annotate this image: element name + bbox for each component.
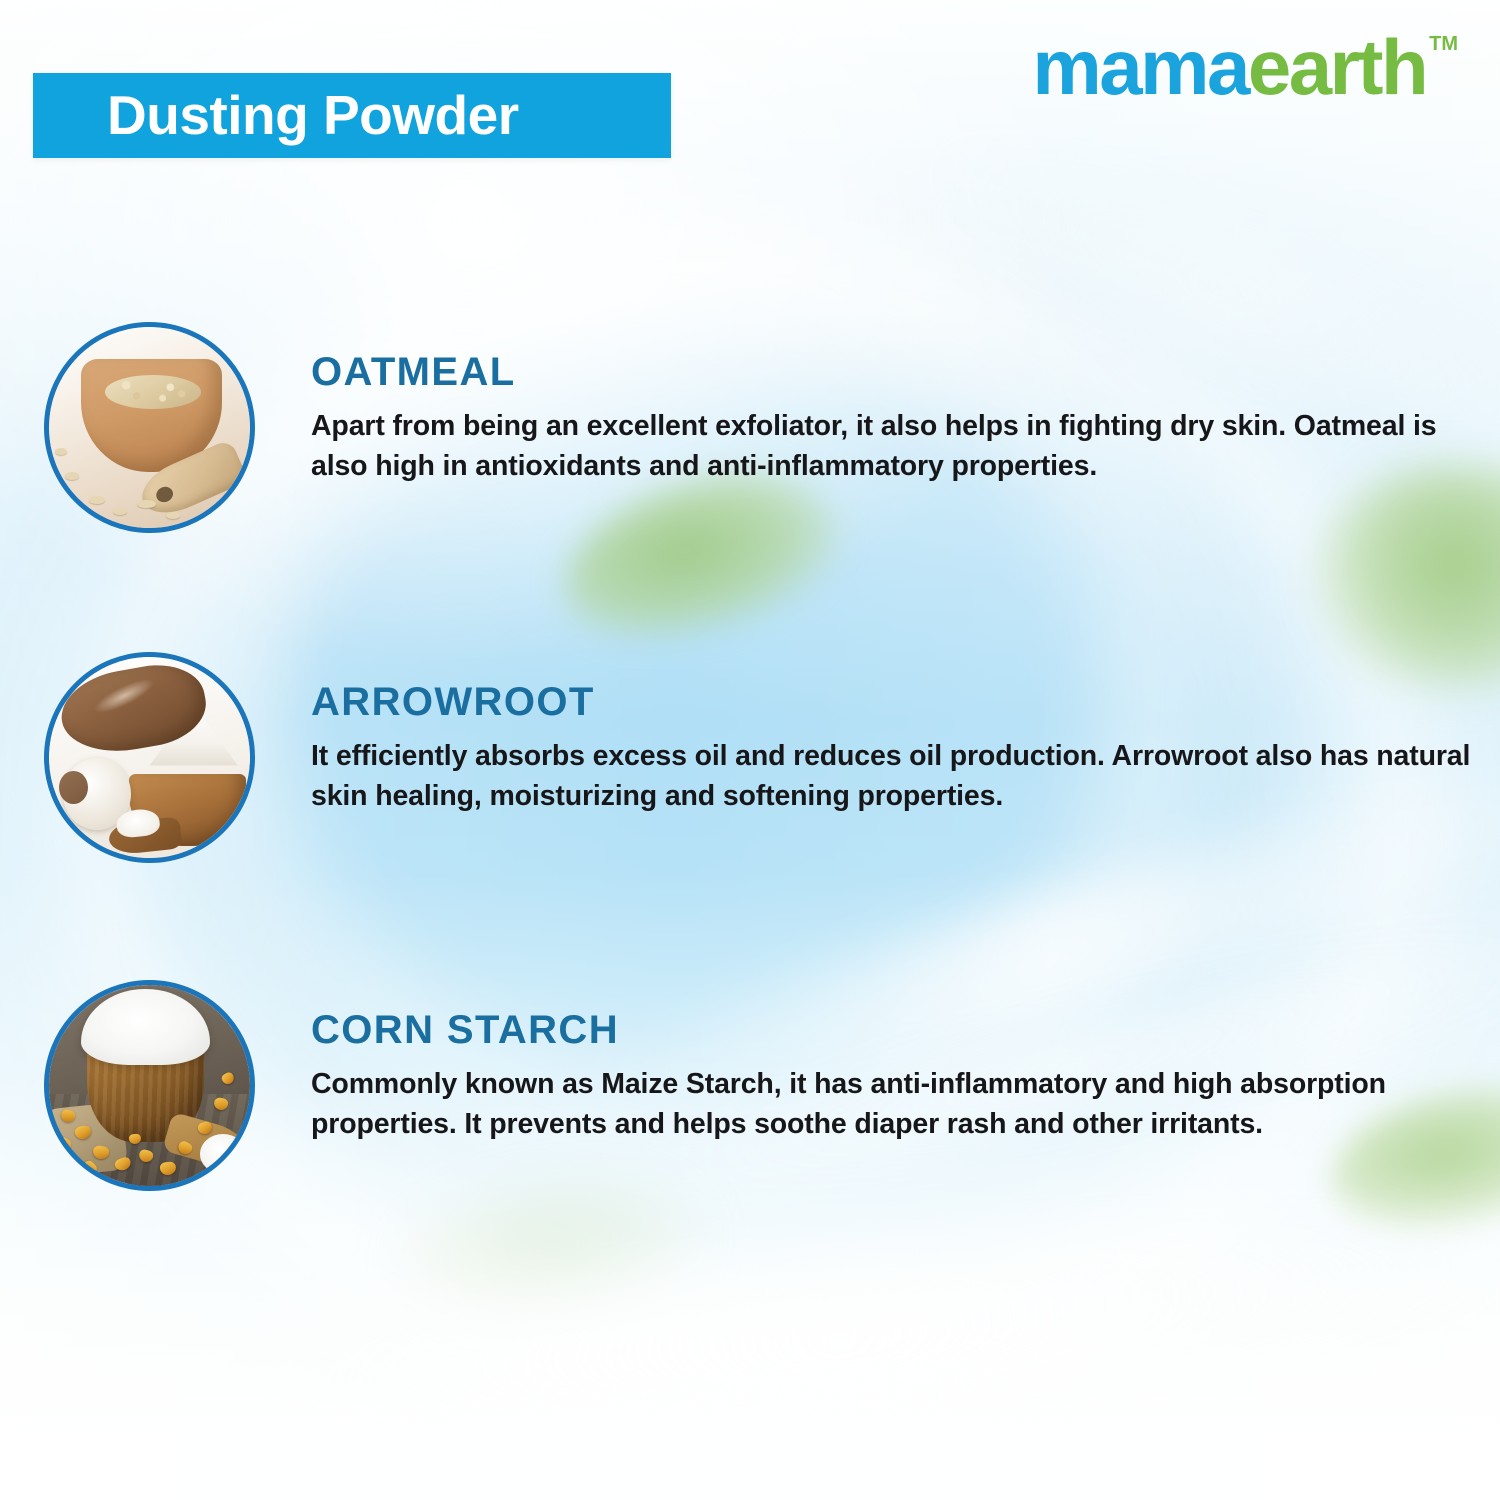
- ingredient-row-oatmeal: OATMEAL Apart from being an excellent ex…: [44, 322, 1484, 533]
- ingredient-description: Commonly known as Maize Starch, it has a…: [311, 1064, 1484, 1145]
- ingredient-row-corn-starch: CORN STARCH Commonly known as Maize Star…: [44, 980, 1484, 1191]
- oatmeal-bowl-photo: [49, 327, 250, 528]
- ingredient-text-oatmeal: OATMEAL Apart from being an excellent ex…: [311, 322, 1484, 487]
- corn-starch-bowl-photo: [49, 985, 250, 1186]
- ingredient-infographic-poster: Dusting Powder mamaearthTM: [0, 0, 1500, 1500]
- arrowroot-root-powder-photo: [49, 657, 250, 858]
- ingredient-row-arrowroot: ARROWROOT It efficiently absorbs excess …: [44, 652, 1484, 863]
- ingredient-name: OATMEAL: [311, 352, 1484, 392]
- ingredient-name: ARROWROOT: [311, 682, 1484, 722]
- ingredient-thumbnail-corn-starch: [44, 980, 255, 1191]
- ingredient-thumbnail-arrowroot: [44, 652, 255, 863]
- ingredient-thumbnail-oatmeal: [44, 322, 255, 533]
- ingredient-list: OATMEAL Apart from being an excellent ex…: [0, 0, 1500, 1500]
- ingredient-description: It efficiently absorbs excess oil and re…: [311, 736, 1484, 817]
- ingredient-text-corn-starch: CORN STARCH Commonly known as Maize Star…: [311, 980, 1484, 1145]
- ingredient-text-arrowroot: ARROWROOT It efficiently absorbs excess …: [311, 652, 1484, 817]
- ingredient-description: Apart from being an excellent exfoliator…: [311, 406, 1484, 487]
- ingredient-name: CORN STARCH: [311, 1010, 1484, 1050]
